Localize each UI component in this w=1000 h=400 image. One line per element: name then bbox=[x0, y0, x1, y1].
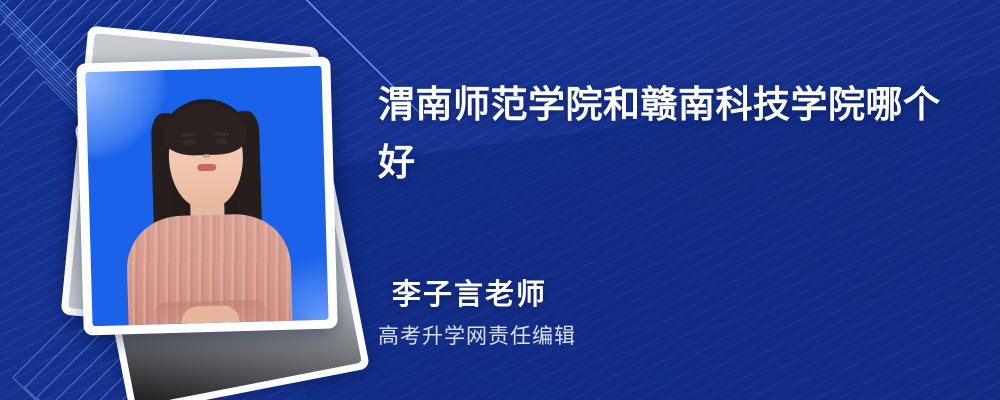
photo-card-stack bbox=[52, 34, 352, 364]
author-role: 高考升学网责任编辑 bbox=[378, 320, 576, 350]
poster-headline: 渭南师范学院和赣南科技学院哪个好 bbox=[378, 76, 958, 192]
poster-canvas: 渭南师范学院和赣南科技学院哪个好 李子言老师 高考升学网责任编辑 bbox=[0, 0, 1000, 400]
portrait-hands bbox=[181, 305, 239, 324]
portrait-eyebrow-right bbox=[214, 132, 229, 136]
portrait-mouth bbox=[197, 164, 216, 172]
portrait-eye-left bbox=[183, 139, 195, 144]
portrait-nose bbox=[202, 154, 209, 158]
photo-card-front bbox=[76, 57, 337, 336]
portrait-figure bbox=[85, 66, 328, 326]
portrait-eye-right bbox=[215, 138, 227, 143]
text-block: 渭南师范学院和赣南科技学院哪个好 李子言老师 高考升学网责任编辑 bbox=[378, 0, 978, 400]
author-name: 李子言老师 bbox=[392, 271, 547, 313]
teacher-portrait-photo bbox=[85, 66, 328, 326]
